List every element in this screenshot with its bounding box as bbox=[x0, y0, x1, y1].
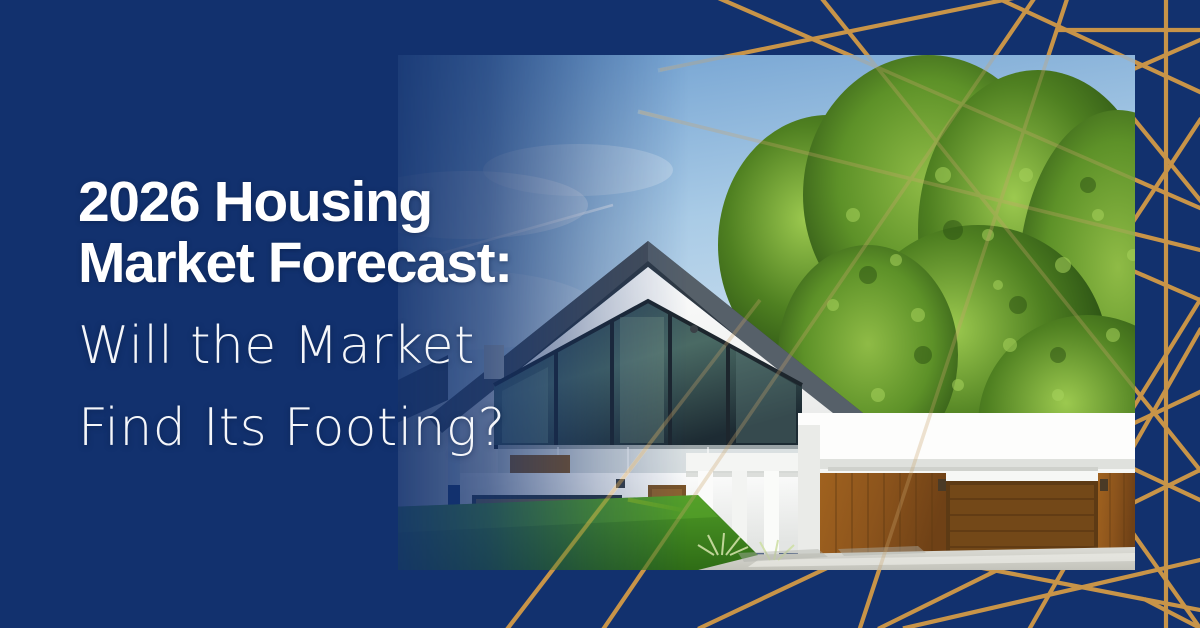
subhead-line-2: Find Its Footing? bbox=[78, 398, 698, 458]
banner-canvas: 2026 Housing Market Forecast: Will the M… bbox=[0, 0, 1200, 628]
subhead-line-1: Will the Market bbox=[78, 316, 698, 376]
headline-line-2: Market Forecast: bbox=[78, 233, 698, 294]
headline-line-1: 2026 Housing bbox=[78, 172, 698, 233]
text-block: 2026 Housing Market Forecast: Will the M… bbox=[78, 172, 698, 458]
